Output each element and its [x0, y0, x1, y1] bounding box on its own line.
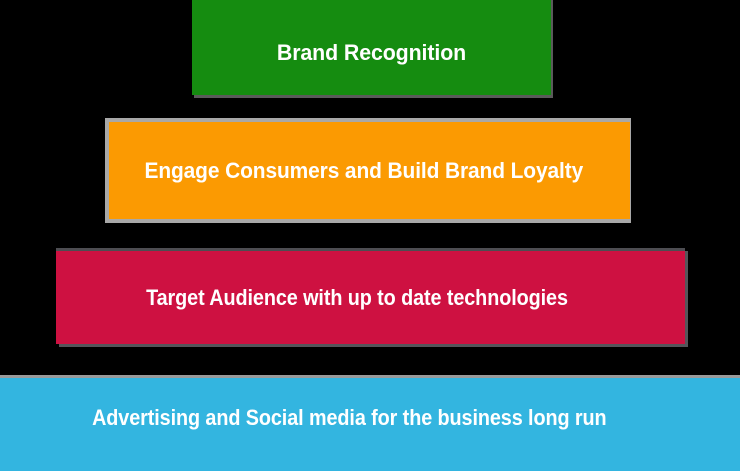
- band-label-advertising-social-media: Advertising and Social media for the bus…: [16, 405, 682, 445]
- band-label-brand-recognition: Brand Recognition: [197, 18, 545, 66]
- slide-canvas: Brand Recognition Engage Consumers and B…: [0, 0, 740, 471]
- band-label-target-audience: Target Audience with up to date technolo…: [74, 285, 640, 311]
- band-label-engage-consumers: Engage Consumers and Build Brand Loyalty: [116, 158, 611, 184]
- band-advertising-social-media[interactable]: Advertising and Social media for the bus…: [0, 375, 740, 471]
- band-engage-consumers[interactable]: Engage Consumers and Build Brand Loyalty: [105, 118, 631, 223]
- band-target-audience[interactable]: Target Audience with up to date technolo…: [56, 248, 685, 344]
- band-brand-recognition[interactable]: Brand Recognition: [192, 0, 551, 95]
